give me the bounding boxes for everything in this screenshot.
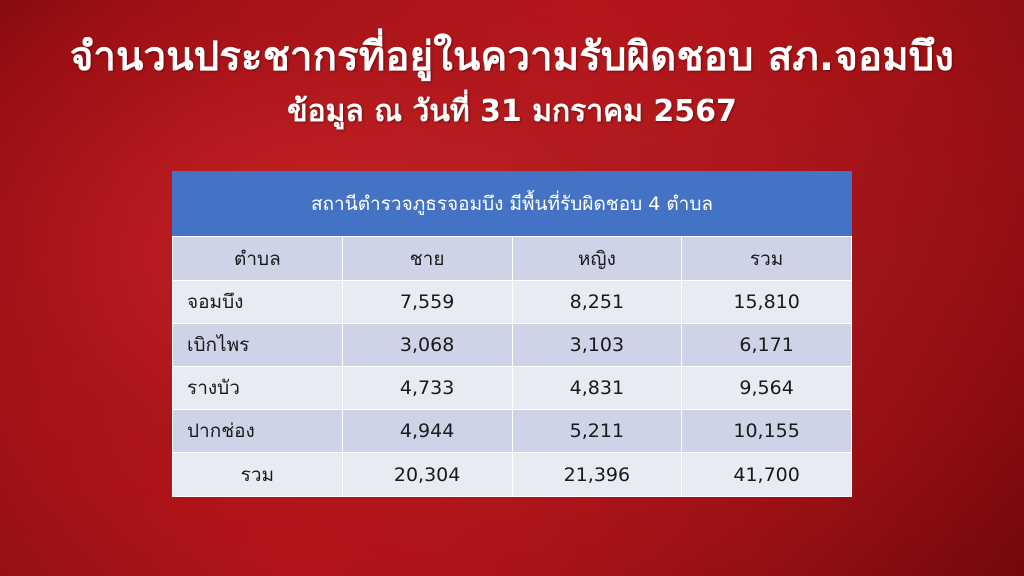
table-row: จอมบึง 7,559 8,251 15,810 [173, 281, 852, 324]
page-title: จำนวนประชากรที่อยู่ในความรับผิดชอบ สภ.จอ… [0, 34, 1024, 80]
population-table-container: สถานีตำรวจภูธรจอมบึง มีพื้นที่รับผิดชอบ … [172, 171, 852, 497]
column-header-female: หญิง [512, 237, 682, 281]
cell-male: 3,068 [342, 324, 512, 367]
total-male: 20,304 [342, 453, 512, 497]
total-female: 21,396 [512, 453, 682, 497]
table-banner-row: สถานีตำรวจภูธรจอมบึง มีพื้นที่รับผิดชอบ … [173, 172, 852, 237]
column-header-total: รวม [682, 237, 852, 281]
cell-total: 10,155 [682, 410, 852, 453]
cell-female: 4,831 [512, 367, 682, 410]
cell-total: 6,171 [682, 324, 852, 367]
table-header-row: ตำบล ชาย หญิง รวม [173, 237, 852, 281]
cell-male: 4,944 [342, 410, 512, 453]
table-row: รางบัว 4,733 4,831 9,564 [173, 367, 852, 410]
row-label: จอมบึง [173, 281, 343, 324]
table-row: เบิกไพร 3,068 3,103 6,171 [173, 324, 852, 367]
cell-male: 7,559 [342, 281, 512, 324]
row-label: เบิกไพร [173, 324, 343, 367]
column-header-male: ชาย [342, 237, 512, 281]
cell-total: 9,564 [682, 367, 852, 410]
total-grand: 41,700 [682, 453, 852, 497]
cell-male: 4,733 [342, 367, 512, 410]
page-subtitle: ข้อมูล ณ วันที่ 31 มกราคม 2567 [0, 94, 1024, 130]
table-total-row: รวม 20,304 21,396 41,700 [173, 453, 852, 497]
table-row: ปากช่อง 4,944 5,211 10,155 [173, 410, 852, 453]
cell-female: 5,211 [512, 410, 682, 453]
total-row-label: รวม [173, 453, 343, 497]
cell-female: 8,251 [512, 281, 682, 324]
slide-canvas: จำนวนประชากรที่อยู่ในความรับผิดชอบ สภ.จอ… [0, 0, 1024, 576]
population-table: สถานีตำรวจภูธรจอมบึง มีพื้นที่รับผิดชอบ … [172, 171, 852, 497]
row-label: รางบัว [173, 367, 343, 410]
column-header-tambon: ตำบล [173, 237, 343, 281]
row-label: ปากช่อง [173, 410, 343, 453]
table-banner: สถานีตำรวจภูธรจอมบึง มีพื้นที่รับผิดชอบ … [173, 172, 852, 237]
title-block: จำนวนประชากรที่อยู่ในความรับผิดชอบ สภ.จอ… [0, 34, 1024, 130]
cell-total: 15,810 [682, 281, 852, 324]
cell-female: 3,103 [512, 324, 682, 367]
